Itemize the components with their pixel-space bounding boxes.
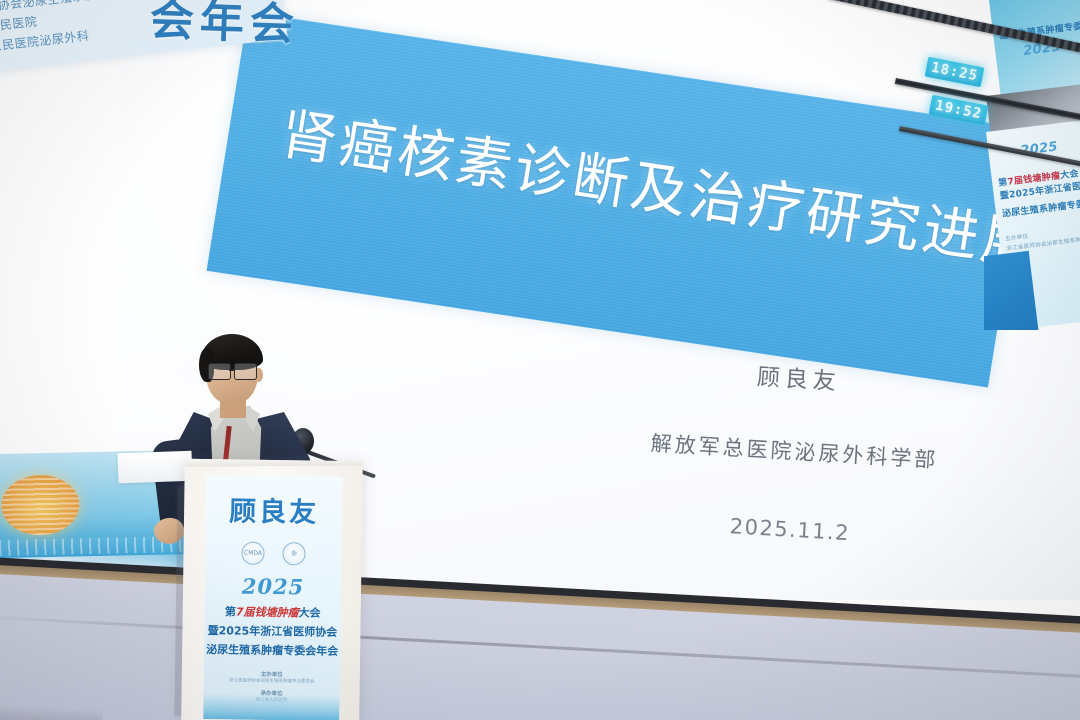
podium-name-plate: 顾良友: [206, 489, 343, 530]
podium-top-surface: [181, 459, 363, 467]
speaker-glasses: [206, 363, 260, 378]
podium-conf-edition: 7: [236, 605, 244, 618]
floor-seam: [0, 614, 1080, 681]
slide-title: 肾癌核素诊断及治疗研究进展分析: [277, 107, 998, 269]
sun-building-graphic: [1, 474, 80, 536]
slide-presenter-block: 顾良友 解放军总医院泌尿外科学部 2025.11.2: [550, 346, 1040, 556]
podium-conf-mid: 届钱塘肿瘤: [243, 606, 298, 620]
slide-presenter-affiliation: 解放军总医院泌尿外科学部: [554, 422, 1035, 480]
podium-year: 2025: [205, 573, 341, 600]
right-side-banner-column: 泌尿生殖系肿瘤专委会年会 2025 2025 第7届钱塘肿瘤大会 暨2025年浙…: [984, 0, 1080, 330]
floor-shadow-left: [0, 702, 103, 720]
glasses-lens-left: [208, 363, 231, 380]
podium: 顾良友 CMDA 浙 2025 第7届钱塘肿瘤大会 暨2025年浙江省医师协会 …: [181, 459, 363, 720]
podium-conf-suffix: 大会: [298, 606, 320, 619]
podium-conf-line1: 第7届钱塘肿瘤大会: [205, 603, 341, 621]
glasses-bridge: [229, 369, 235, 371]
podium-conf-line2: 暨2025年浙江省医师协会: [204, 622, 340, 640]
podium-credit1-body: 浙江省医师协会泌尿生殖系肿瘤专业委员会: [204, 677, 340, 685]
right-banner-footnote1: 主办单位: [1005, 232, 1029, 243]
podium-side-card: [117, 451, 192, 484]
podium-poster-wave-graphic: [203, 693, 339, 720]
conference-photo-scene: 肾癌核素诊断及治疗研究进展分析 顾良友 解放军总医院泌尿外科学部 2025.11…: [0, 0, 1080, 720]
podium-conf-line3: 泌尿生殖系肿瘤专委会年会: [204, 641, 340, 659]
province-logo-icon: 浙: [282, 542, 305, 565]
cmda-logo-icon: CMDA: [241, 542, 264, 565]
podium-conf-prefix: 第: [225, 605, 236, 618]
top-left-banner-headline: 会年会: [149, 0, 301, 53]
podium-logo-row: CMDA 浙: [205, 541, 341, 566]
glasses-lens-right: [234, 363, 257, 380]
podium-poster-panel: 顾良友 CMDA 浙 2025 第7届钱塘肿瘤大会 暨2025年浙江省医师协会 …: [203, 475, 342, 720]
